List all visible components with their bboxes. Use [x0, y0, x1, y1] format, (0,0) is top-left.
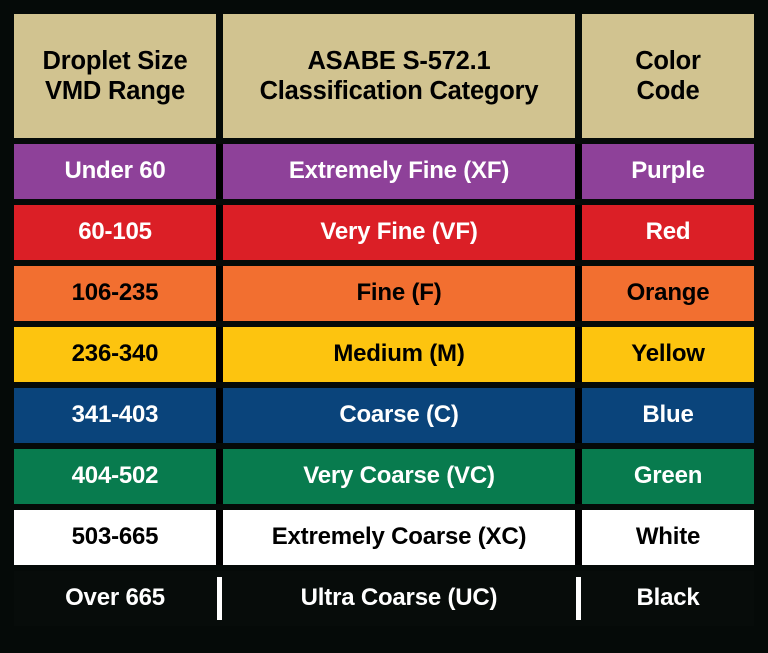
cell-category: Very Fine (VF) [223, 205, 575, 260]
row-divider-1 [216, 510, 223, 565]
header-cell-vmd-range: Droplet Size VMD Range [14, 14, 216, 138]
table-body: Under 60Extremely Fine (XF)Purple60-105V… [14, 144, 754, 626]
row-divider-1 [216, 266, 223, 321]
row-divider-2 [575, 266, 582, 321]
row-divider-1 [216, 449, 223, 504]
header-vmd-line2: VMD Range [45, 76, 185, 106]
classification-table: Droplet Size VMD Range ASABE S-572.1 Cla… [14, 14, 754, 639]
table-header-row: Droplet Size VMD Range ASABE S-572.1 Cla… [14, 14, 754, 138]
cell-category: Fine (F) [223, 266, 575, 321]
cell-category: Extremely Fine (XF) [223, 144, 575, 199]
cell-color-name: Orange [582, 266, 754, 321]
cell-color-name: Purple [582, 144, 754, 199]
cell-vmd-range: Under 60 [14, 144, 216, 199]
row-divider-2 [575, 205, 582, 260]
table-row: 236-340Medium (M)Yellow [14, 327, 754, 382]
cell-color-name: Yellow [582, 327, 754, 382]
row-divider-2 [575, 327, 582, 382]
header-cell-classification: ASABE S-572.1 Classification Category [223, 14, 575, 138]
row-divider-2 [575, 144, 582, 199]
cell-vmd-range: 503-665 [14, 510, 216, 565]
cell-vmd-range: Over 665 [14, 571, 216, 626]
table-row: 341-403Coarse (C)Blue [14, 388, 754, 443]
cell-color-name: Black [582, 571, 754, 626]
row-divider-1 [216, 571, 223, 626]
header-class-line2: Classification Category [260, 76, 539, 106]
cell-vmd-range: 236-340 [14, 327, 216, 382]
header-color-line2: Code [637, 76, 700, 106]
row-divider-2 [575, 510, 582, 565]
cell-category: Extremely Coarse (XC) [223, 510, 575, 565]
row-divider-2 [575, 449, 582, 504]
table-row: 60-105Very Fine (VF)Red [14, 205, 754, 260]
header-color-line1: Color [635, 46, 701, 76]
row-divider-1 [216, 144, 223, 199]
table-row: 503-665Extremely Coarse (XC)White [14, 510, 754, 565]
row-divider-1 [216, 205, 223, 260]
row-divider-1 [216, 388, 223, 443]
header-vmd-line1: Droplet Size [43, 46, 188, 76]
cell-category: Very Coarse (VC) [223, 449, 575, 504]
cell-category: Ultra Coarse (UC) [223, 571, 575, 626]
header-divider-2 [575, 14, 582, 138]
cell-vmd-range: 106-235 [14, 266, 216, 321]
row-divider-1 [216, 327, 223, 382]
droplet-size-classification-chart: Droplet Size VMD Range ASABE S-572.1 Cla… [0, 0, 768, 653]
cell-color-name: Green [582, 449, 754, 504]
table-row: Under 60Extremely Fine (XF)Purple [14, 144, 754, 199]
cell-vmd-range: 404-502 [14, 449, 216, 504]
table-row: 106-235Fine (F)Orange [14, 266, 754, 321]
header-divider-1 [216, 14, 223, 138]
cell-color-name: Blue [582, 388, 754, 443]
cell-color-name: White [582, 510, 754, 565]
cell-category: Medium (M) [223, 327, 575, 382]
table-row: Over 665Ultra Coarse (UC)Black [14, 571, 754, 626]
cell-category: Coarse (C) [223, 388, 575, 443]
row-divider-2 [575, 571, 582, 626]
table-row: 404-502Very Coarse (VC)Green [14, 449, 754, 504]
cell-vmd-range: 341-403 [14, 388, 216, 443]
cell-vmd-range: 60-105 [14, 205, 216, 260]
row-divider-2 [575, 388, 582, 443]
cell-color-name: Red [582, 205, 754, 260]
header-cell-color-code: Color Code [582, 14, 754, 138]
header-class-line1: ASABE S-572.1 [307, 46, 490, 76]
